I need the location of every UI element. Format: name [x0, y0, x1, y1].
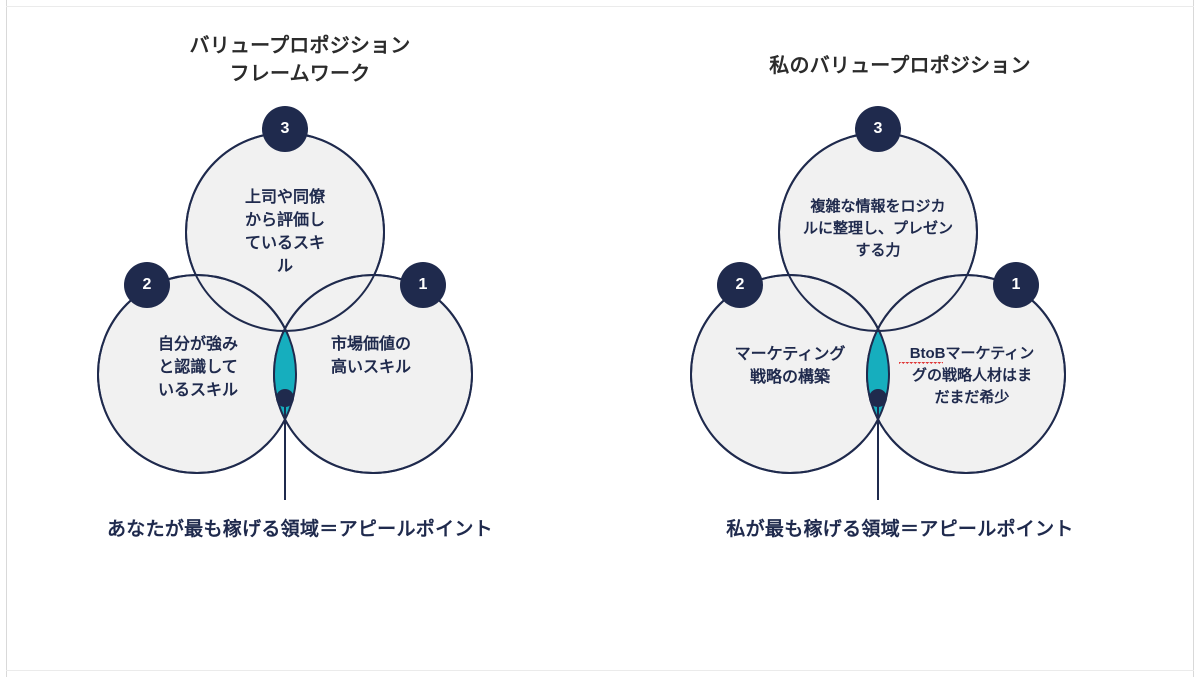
- badge-label-2: 2: [717, 277, 763, 293]
- caption-my-value-proposition: 私が最も稼げる領域＝アピールポイント: [600, 517, 1200, 543]
- venn-label-bottom-left: マーケティング 戦略の構築: [710, 343, 870, 389]
- venn-label-bottom-right: BtoBマーケティン グの戦略人材はま だまだ希少: [898, 343, 1046, 409]
- venn-label-top: 複雑な情報をロジカ ルに整理し、プレゼン する力: [780, 196, 976, 262]
- venn-svg-framework: [0, 0, 600, 677]
- caption-framework: あなたが最も稼げる領域＝アピールポイント: [0, 517, 600, 543]
- venn-svg-my-value-proposition: [600, 0, 1200, 677]
- venn-label-bottom-left: 自分が強み と認識して いるスキル: [128, 333, 268, 402]
- venn-diagram-framework: 3 2 1 上司や同僚 から評価し ているスキ ル 自分が強み と認識して いる…: [0, 0, 600, 677]
- badge-label-3: 3: [855, 121, 901, 137]
- spellcheck-squiggle-underline: [899, 362, 943, 366]
- badge-label-2: 2: [124, 277, 170, 293]
- venn-diagram-my-value-proposition: 3 2 1 複雑な情報をロジカ ルに整理し、プレゼン する力 マーケティング 戦…: [600, 0, 1200, 677]
- leader-dot: [869, 389, 887, 407]
- badge-label-1: 1: [400, 277, 446, 293]
- venn-label-bottom-right: 市場価値の 高いスキル: [305, 333, 437, 379]
- panel-my-value-proposition: 私のバリュープロポジション: [600, 0, 1200, 677]
- leader-dot: [276, 389, 294, 407]
- venn-label-top: 上司や同僚 から評価し ているスキ ル: [205, 186, 365, 278]
- slide-canvas: バリュープロポジション フレームワーク: [0, 0, 1200, 677]
- badge-label-1: 1: [993, 277, 1039, 293]
- panel-framework: バリュープロポジション フレームワーク: [0, 0, 600, 677]
- badge-label-3: 3: [262, 121, 308, 137]
